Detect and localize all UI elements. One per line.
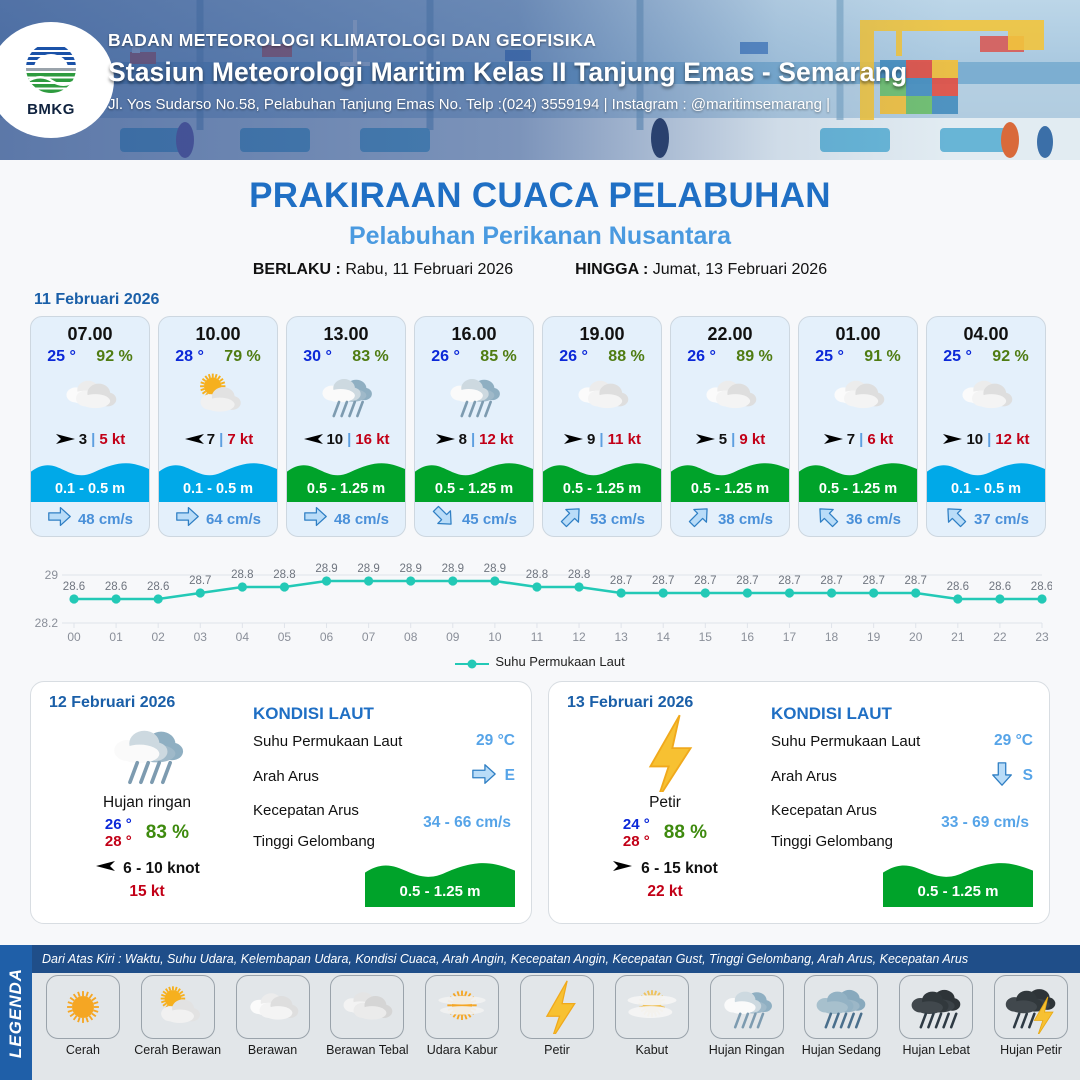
legend-section: LEGENDA Dari Atas Kiri : Waktu, Suhu Uda… xyxy=(0,945,1080,1080)
svg-text:12: 12 xyxy=(572,630,586,644)
legend-item-list: Cerah Cerah Berawan Berawan xyxy=(32,975,1076,1057)
sst-chart: 2928.228.60028.60128.60228.70328.80428.8… xyxy=(28,549,1052,649)
svg-text:28.8: 28.8 xyxy=(231,569,253,581)
card-air-temp: 26 ° xyxy=(431,348,460,366)
current-speed-label: Kecepatan Arus xyxy=(253,802,359,819)
svg-text:17: 17 xyxy=(783,630,797,644)
card-wave-height: 0.1 - 0.5 m xyxy=(159,481,277,497)
card-wave-height: 0.1 - 0.5 m xyxy=(31,481,149,497)
validity-row: BERLAKU : Rabu, 11 Februari 2026 HINGGA … xyxy=(0,261,1080,279)
card-gust: 6 kt xyxy=(867,431,893,448)
card-current-speed: 64 cm/s xyxy=(206,511,261,528)
forecast-card[interactable]: 07.00 25 ° 92 % 3 | 5 kt 0.1 - 0.5 m xyxy=(30,316,150,537)
card-humidity: 92 % xyxy=(96,348,132,366)
svg-text:28.7: 28.7 xyxy=(905,575,927,587)
forecast-card[interactable]: 19.00 26 ° 88 % 9 | 11 kt 0.5 - 1.25 m xyxy=(542,316,662,537)
berawan-icon xyxy=(236,975,310,1039)
legend-item: Udara Kabur xyxy=(417,975,507,1057)
wind-direction-icon xyxy=(435,431,455,447)
wind-direction-icon xyxy=(563,431,583,447)
legend-item-label: Hujan Lebat xyxy=(891,1043,981,1057)
svg-text:28.7: 28.7 xyxy=(652,575,674,587)
legend-item-label: Hujan Ringan xyxy=(702,1043,792,1057)
svg-text:28.7: 28.7 xyxy=(862,575,884,587)
legenda-title: LEGENDA xyxy=(6,967,26,1057)
legend-label: Suhu Permukaan Laut xyxy=(495,654,624,669)
svg-text:28.7: 28.7 xyxy=(610,575,632,587)
card-wind-speed: 8 xyxy=(459,431,467,448)
forecast-card[interactable]: 13.00 30 ° 83 % 10 | 16 kt 0.5 - 1.25 m xyxy=(286,316,406,537)
card-gust: 12 kt xyxy=(479,431,513,448)
svg-text:28.2: 28.2 xyxy=(35,616,59,630)
cerah-icon xyxy=(46,975,120,1039)
card-gust: 5 kt xyxy=(99,431,125,448)
svg-text:20: 20 xyxy=(909,630,923,644)
svg-text:28.6: 28.6 xyxy=(105,581,127,593)
card-time: 04.00 xyxy=(927,317,1045,345)
card-current-speed: 37 cm/s xyxy=(974,511,1029,528)
legend-item-label: Hujan Petir xyxy=(986,1043,1076,1057)
svg-text:05: 05 xyxy=(278,630,292,644)
bmkg-logo-text: BMKG xyxy=(27,101,75,118)
svg-text:00: 00 xyxy=(67,630,81,644)
svg-text:28.6: 28.6 xyxy=(947,581,969,593)
svg-text:18: 18 xyxy=(825,630,839,644)
separator: | xyxy=(859,431,863,448)
panel-wave-height: 0.5 - 1.25 m xyxy=(365,883,515,900)
card-humidity: 83 % xyxy=(352,348,388,366)
svg-text:01: 01 xyxy=(109,630,123,644)
svg-text:22: 22 xyxy=(993,630,1007,644)
card-wave-band: 0.1 - 0.5 m xyxy=(31,456,149,502)
hujan-ringan-icon xyxy=(710,975,784,1039)
wind-direction-icon xyxy=(612,858,634,879)
current-dir-label: Arah Arus xyxy=(771,768,837,785)
hujan-lebat-icon xyxy=(899,975,973,1039)
forecast-card[interactable]: 22.00 26 ° 89 % 5 | 9 kt 0.5 - 1.25 m xyxy=(670,316,790,537)
svg-text:28.8: 28.8 xyxy=(273,569,295,581)
card-air-temp: 25 ° xyxy=(47,348,76,366)
svg-text:28.7: 28.7 xyxy=(778,575,800,587)
berawan-icon xyxy=(543,366,661,424)
card-wave-height: 0.5 - 1.25 m xyxy=(287,481,405,497)
svg-text:16: 16 xyxy=(741,630,755,644)
svg-text:28.7: 28.7 xyxy=(820,575,842,587)
card-current-speed: 53 cm/s xyxy=(590,511,645,528)
current-direction-icon xyxy=(431,504,456,534)
card-current-speed: 45 cm/s xyxy=(462,511,517,528)
panel-temp-min: 24 ° xyxy=(623,816,650,833)
forecast-card[interactable]: 16.00 26 ° 85 % 8 | 12 kt 0.5 - 1.25 m xyxy=(414,316,534,537)
card-humidity: 88 % xyxy=(608,348,644,366)
current-direction-icon xyxy=(559,504,584,534)
panel-wave-height: 0.5 - 1.25 m xyxy=(883,883,1033,900)
panel-current-speed: 33 - 69 cm/s xyxy=(941,814,1029,832)
panel-humidity: 83 % xyxy=(146,822,189,844)
current-dir-value: S xyxy=(1023,767,1033,785)
hingga-group: HINGGA : Jumat, 13 Februari 2026 xyxy=(575,261,827,279)
current-dir-value: E xyxy=(505,767,515,785)
wind-direction-icon xyxy=(55,431,75,447)
cerah-berawan-icon xyxy=(159,366,277,424)
wind-direction-icon xyxy=(94,858,116,879)
panel-gust: 22 kt xyxy=(565,883,765,901)
svg-text:21: 21 xyxy=(951,630,965,644)
card-current-speed: 36 cm/s xyxy=(846,511,901,528)
panel-wind: 6 - 15 knot xyxy=(641,860,718,878)
wind-direction-icon xyxy=(695,431,715,447)
current-direction-icon xyxy=(989,761,1015,791)
svg-text:28.6: 28.6 xyxy=(1031,581,1052,593)
current-direction-icon xyxy=(471,761,497,791)
legend-item: Berawan xyxy=(228,975,318,1057)
svg-text:07: 07 xyxy=(362,630,376,644)
panel-temp-max: 28 ° xyxy=(623,833,650,850)
current-direction-icon xyxy=(815,504,840,534)
sea-condition-title: KONDISI LAUT xyxy=(771,704,1033,724)
card-wave-height: 0.1 - 0.5 m xyxy=(927,481,1045,497)
berawan-tebal-icon xyxy=(330,975,404,1039)
legend-item-label: Udara Kabur xyxy=(417,1043,507,1057)
legend-item: Hujan Lebat xyxy=(891,975,981,1057)
panel-date: 13 Februari 2026 xyxy=(567,694,765,712)
legend-item: Petir xyxy=(512,975,602,1057)
panel-wave-band: 0.5 - 1.25 m xyxy=(883,855,1033,907)
svg-text:28.6: 28.6 xyxy=(63,581,85,593)
panel-wave-band: 0.5 - 1.25 m xyxy=(365,855,515,907)
panel-gust: 15 kt xyxy=(47,883,247,901)
svg-text:08: 08 xyxy=(404,630,418,644)
svg-text:28.8: 28.8 xyxy=(526,569,548,581)
svg-text:28.7: 28.7 xyxy=(736,575,758,587)
hujan-sedang-icon xyxy=(804,975,878,1039)
svg-text:19: 19 xyxy=(867,630,881,644)
card-wave-band: 0.5 - 1.25 m xyxy=(671,456,789,502)
legend-item: Cerah xyxy=(38,975,128,1057)
separator: | xyxy=(599,431,603,448)
separator: | xyxy=(347,431,351,448)
card-humidity: 92 % xyxy=(992,348,1028,366)
legend-marker-icon xyxy=(455,657,489,667)
wave-height-label: Tinggi Gelombang xyxy=(253,833,375,850)
card-current-speed: 48 cm/s xyxy=(334,511,389,528)
petir-icon xyxy=(565,714,765,792)
udara-kabur-icon xyxy=(425,975,499,1039)
card-humidity: 89 % xyxy=(736,348,772,366)
card-gust: 11 kt xyxy=(608,431,641,448)
card-air-temp: 30 ° xyxy=(303,348,332,366)
card-wave-height: 0.5 - 1.25 m xyxy=(799,481,917,497)
svg-text:13: 13 xyxy=(614,630,628,644)
card-humidity: 91 % xyxy=(864,348,900,366)
panel-date: 12 Februari 2026 xyxy=(49,694,247,712)
svg-text:09: 09 xyxy=(446,630,460,644)
legend-item: Hujan Ringan xyxy=(702,975,792,1057)
separator: | xyxy=(219,431,223,448)
svg-text:06: 06 xyxy=(320,630,334,644)
legend-item: Berawan Tebal xyxy=(322,975,412,1057)
berlaku-value: Rabu, 11 Februari 2026 xyxy=(345,261,513,278)
card-wave-band: 0.5 - 1.25 m xyxy=(799,456,917,502)
card-time: 01.00 xyxy=(799,317,917,345)
card-wave-height: 0.5 - 1.25 m xyxy=(543,481,661,497)
card-time: 13.00 xyxy=(287,317,405,345)
page-title: PRAKIRAAN CUACA PELABUHAN xyxy=(0,176,1080,216)
legend-item-label: Kabut xyxy=(607,1043,697,1057)
card-air-temp: 25 ° xyxy=(943,348,972,366)
legend-item: Kabut xyxy=(607,975,697,1057)
card-humidity: 85 % xyxy=(480,348,516,366)
panel-temp-min: 26 ° xyxy=(105,816,132,833)
wind-direction-icon xyxy=(183,431,203,447)
card-wind-speed: 7 xyxy=(207,431,215,448)
sea-condition-title: KONDISI LAUT xyxy=(253,704,515,724)
berlaku-group: BERLAKU : Rabu, 11 Februari 2026 xyxy=(253,261,513,279)
svg-text:28.9: 28.9 xyxy=(400,563,422,575)
current-dir-label: Arah Arus xyxy=(253,768,319,785)
hujan-ringan-icon xyxy=(287,366,405,424)
panel-condition: Hujan ringan xyxy=(47,794,247,812)
sst-value: 29 °C xyxy=(994,732,1033,750)
card-wave-band: 0.5 - 1.25 m xyxy=(287,456,405,502)
petir-icon xyxy=(520,975,594,1039)
sst-label: Suhu Permukaan Laut xyxy=(771,733,920,750)
svg-text:03: 03 xyxy=(194,630,208,644)
card-current-speed: 48 cm/s xyxy=(78,511,133,528)
current-direction-icon xyxy=(47,504,72,534)
current-direction-icon xyxy=(175,504,200,534)
hujan-ringan-icon xyxy=(47,714,247,792)
card-wave-height: 0.5 - 1.25 m xyxy=(671,481,789,497)
hujan-petir-icon xyxy=(994,975,1068,1039)
svg-text:28.8: 28.8 xyxy=(568,569,590,581)
station-name: Stasiun Meteorologi Maritim Kelas II Tan… xyxy=(108,57,907,88)
card-gust: 12 kt xyxy=(995,431,1029,448)
current-direction-icon xyxy=(303,504,328,534)
forecast-card[interactable]: 10.00 28 ° 79 % 7 | 7 kt 0.1 - 0.5 m 64 … xyxy=(158,316,278,537)
daily-panel-list: 12 Februari 2026 Hujan ringan 26 ° 28 ° … xyxy=(0,669,1080,924)
svg-text:28.9: 28.9 xyxy=(315,563,337,575)
svg-text:28.6: 28.6 xyxy=(989,581,1011,593)
bmkg-emblem-icon xyxy=(20,42,82,100)
card-wind-speed: 10 xyxy=(326,431,343,448)
svg-text:04: 04 xyxy=(236,630,250,644)
card-air-temp: 28 ° xyxy=(175,348,204,366)
hingga-label: HINGGA : xyxy=(575,261,648,278)
daily-forecast-panel[interactable]: 13 Februari 2026 Petir 24 ° 28 ° 88 % 6 … xyxy=(548,681,1050,924)
panel-condition: Petir xyxy=(565,794,765,812)
chart-legend: Suhu Permukaan Laut xyxy=(0,654,1080,669)
svg-text:28.7: 28.7 xyxy=(189,575,211,587)
berawan-icon xyxy=(927,366,1045,424)
legend-item: Hujan Sedang xyxy=(797,975,887,1057)
hingga-value: Jumat, 13 Februari 2026 xyxy=(653,261,827,278)
berawan-icon xyxy=(671,366,789,424)
svg-text:02: 02 xyxy=(151,630,165,644)
legend-item-label: Cerah Berawan xyxy=(133,1043,223,1057)
berawan-icon xyxy=(799,366,917,424)
header-text-block: BADAN METEOROLOGI KLIMATOLOGI DAN GEOFIS… xyxy=(108,30,907,113)
daily-forecast-panel[interactable]: 12 Februari 2026 Hujan ringan 26 ° 28 ° … xyxy=(30,681,532,924)
wave-height-label: Tinggi Gelombang xyxy=(771,833,893,850)
svg-text:23: 23 xyxy=(1035,630,1049,644)
panel-current-speed: 34 - 66 cm/s xyxy=(423,814,511,832)
card-air-temp: 26 ° xyxy=(687,348,716,366)
svg-text:28.9: 28.9 xyxy=(484,563,506,575)
card-time: 19.00 xyxy=(543,317,661,345)
legend-item-label: Petir xyxy=(512,1043,602,1057)
wind-direction-icon xyxy=(942,431,962,447)
svg-text:28.7: 28.7 xyxy=(694,575,716,587)
card-time: 16.00 xyxy=(415,317,533,345)
page-header: BMKG BADAN METEOROLOGI KLIMATOLOGI DAN G… xyxy=(0,0,1080,160)
legend-item-label: Berawan xyxy=(228,1043,318,1057)
legend-item-label: Cerah xyxy=(38,1043,128,1057)
svg-text:29: 29 xyxy=(45,568,59,582)
separator: | xyxy=(987,431,991,448)
svg-text:14: 14 xyxy=(657,630,671,644)
svg-text:28.6: 28.6 xyxy=(147,581,169,593)
forecast-card[interactable]: 01.00 25 ° 91 % 7 | 6 kt 0.5 - 1.25 m xyxy=(798,316,918,537)
card-wind-speed: 5 xyxy=(719,431,727,448)
card-air-temp: 26 ° xyxy=(559,348,588,366)
current-direction-icon xyxy=(687,504,712,534)
kabut-icon xyxy=(615,975,689,1039)
sst-value: 29 °C xyxy=(476,732,515,750)
card-wave-band: 0.1 - 0.5 m xyxy=(159,456,277,502)
agency-name: BADAN METEOROLOGI KLIMATOLOGI DAN GEOFIS… xyxy=(108,30,907,51)
card-air-temp: 25 ° xyxy=(815,348,844,366)
sst-label: Suhu Permukaan Laut xyxy=(253,733,402,750)
card-time: 22.00 xyxy=(671,317,789,345)
card-wind-speed: 9 xyxy=(587,431,595,448)
wind-direction-icon xyxy=(823,431,843,447)
page-subtitle: Pelabuhan Perikanan Nusantara xyxy=(0,222,1080,251)
card-wave-height: 0.5 - 1.25 m xyxy=(415,481,533,497)
berlaku-label: BERLAKU : xyxy=(253,261,341,278)
card-current-speed: 38 cm/s xyxy=(718,511,773,528)
card-wind-speed: 3 xyxy=(79,431,87,448)
legend-item: Hujan Petir xyxy=(986,975,1076,1057)
card-wave-band: 0.5 - 1.25 m xyxy=(415,456,533,502)
panel-humidity: 88 % xyxy=(664,822,707,844)
card-gust: 16 kt xyxy=(355,431,389,448)
separator: | xyxy=(731,431,735,448)
separator: | xyxy=(471,431,475,448)
svg-text:11: 11 xyxy=(531,630,544,644)
forecast-date-label: 11 Februari 2026 xyxy=(34,291,1080,309)
card-gust: 9 kt xyxy=(739,431,765,448)
card-wind-speed: 7 xyxy=(847,431,855,448)
svg-text:15: 15 xyxy=(699,630,713,644)
legenda-note: Dari Atas Kiri : Waktu, Suhu Udara, Kele… xyxy=(32,945,1080,973)
card-wind-speed: 10 xyxy=(966,431,983,448)
berawan-icon xyxy=(31,366,149,424)
svg-text:28.9: 28.9 xyxy=(357,563,379,575)
card-time: 07.00 xyxy=(31,317,149,345)
legend-item-label: Hujan Sedang xyxy=(797,1043,887,1057)
legend-item: Cerah Berawan xyxy=(133,975,223,1057)
panel-wind: 6 - 10 knot xyxy=(123,860,200,878)
panel-temp-max: 28 ° xyxy=(105,833,132,850)
current-direction-icon xyxy=(943,504,968,534)
forecast-card[interactable]: 04.00 25 ° 92 % 10 | 12 kt 0.1 - 0.5 m xyxy=(926,316,1046,537)
legend-item-label: Berawan Tebal xyxy=(322,1043,412,1057)
svg-text:10: 10 xyxy=(488,630,502,644)
svg-text:28.9: 28.9 xyxy=(442,563,464,575)
forecast-card-list: 07.00 25 ° 92 % 3 | 5 kt 0.1 - 0.5 m xyxy=(0,316,1080,537)
legenda-sidebar: LEGENDA xyxy=(0,945,32,1080)
station-address: Jl. Yos Sudarso No.58, Pelabuhan Tanjung… xyxy=(108,96,907,113)
separator: | xyxy=(91,431,95,448)
card-gust: 7 kt xyxy=(227,431,253,448)
card-wave-band: 0.5 - 1.25 m xyxy=(543,456,661,502)
card-humidity: 79 % xyxy=(224,348,260,366)
card-wave-band: 0.1 - 0.5 m xyxy=(927,456,1045,502)
current-speed-label: Kecepatan Arus xyxy=(771,802,877,819)
card-time: 10.00 xyxy=(159,317,277,345)
wind-direction-icon xyxy=(302,431,322,447)
cerah-berawan-icon xyxy=(141,975,215,1039)
hujan-ringan-icon xyxy=(415,366,533,424)
